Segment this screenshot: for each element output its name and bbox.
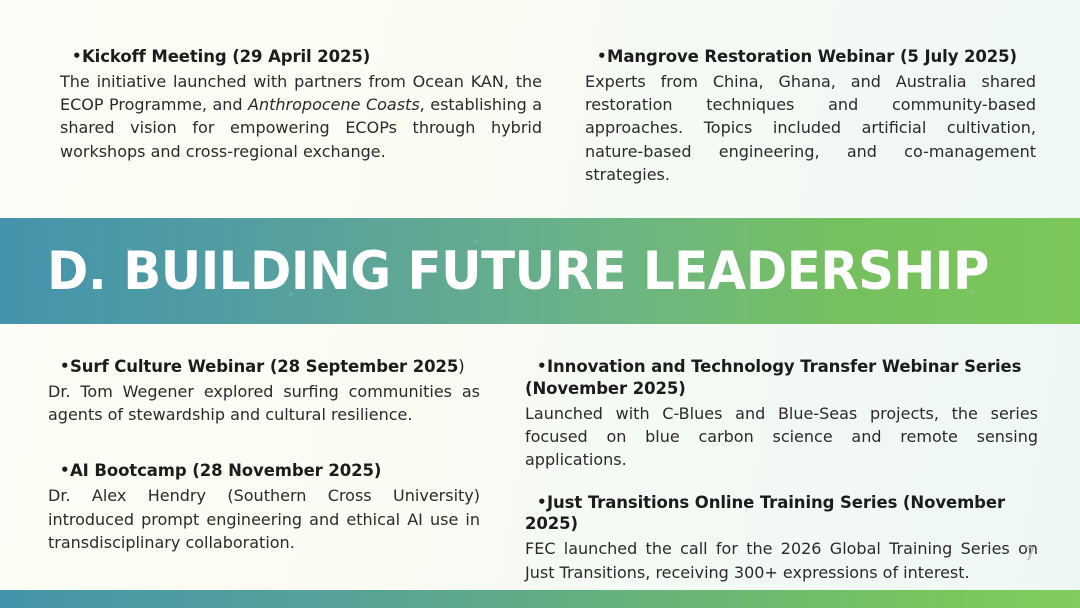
bullet-icon: • [60,47,82,67]
top-left-column: •Kickoff Meeting (29 April 2025) The ini… [0,0,560,218]
bottom-right-column: •Innovation and Technology Transfer Webi… [510,324,1080,590]
block-body: The initiative launched with partners fr… [60,70,542,163]
block-heading: •Mangrove Restoration Webinar (5 July 20… [585,46,1036,68]
block-heading-text: Mangrove Restoration Webinar (5 July 202… [607,47,1017,66]
block-body: Experts from China, Ghana, and Australia… [585,70,1036,187]
block-heading: •Just Transitions Online Training Series… [525,492,1038,536]
content-block-kickoff-meeting: •Kickoff Meeting (29 April 2025) The ini… [60,46,542,163]
block-heading-text: Just Transitions Online Training Series … [525,493,1005,534]
content-block-ai-bootcamp: •AI Bootcamp (28 November 2025) Dr. Alex… [48,460,480,554]
top-right-column: •Mangrove Restoration Webinar (5 July 20… [560,0,1080,218]
bullet-icon: • [525,357,547,377]
bullet-icon: • [48,357,70,377]
page-number: 7 [1024,545,1036,564]
bullet-icon: • [48,461,70,481]
block-body-emphasis: Anthropocene Coasts [248,95,420,114]
top-content-region: •Kickoff Meeting (29 April 2025) The ini… [0,0,1080,218]
bullet-icon: • [525,493,547,513]
presentation-slide: •Kickoff Meeting (29 April 2025) The ini… [0,0,1080,608]
bottom-content-region: •Surf Culture Webinar (28 September 2025… [0,324,1080,590]
block-body: Launched with C-Blues and Blue-Seas proj… [525,402,1038,472]
block-heading-text: AI Bootcamp (28 November 2025) [70,461,381,480]
content-block-surf-culture-webinar: •Surf Culture Webinar (28 September 2025… [48,356,480,426]
bullet-icon: • [585,47,607,67]
block-heading: •Innovation and Technology Transfer Webi… [525,356,1038,400]
content-block-just-transitions-training: •Just Transitions Online Training Series… [525,492,1038,584]
block-heading: •Kickoff Meeting (29 April 2025) [60,46,542,68]
block-heading-tail: ) [458,357,464,376]
block-body: Dr. Alex Hendry (Southern Cross Universi… [48,484,480,554]
content-block-innovation-technology-transfer: •Innovation and Technology Transfer Webi… [525,356,1038,472]
footer-gradient-band [0,590,1080,608]
section-banner-title: D. BUILDING FUTURE LEADERSHIP [0,245,989,298]
section-banner: D. BUILDING FUTURE LEADERSHIP [0,218,1080,324]
block-body: FEC launched the call for the 2026 Globa… [525,537,1038,584]
block-heading-text: Innovation and Technology Transfer Webin… [525,357,1021,398]
block-heading-text: Surf Culture Webinar (28 September 2025 [70,357,458,376]
bottom-left-column: •Surf Culture Webinar (28 September 2025… [0,324,510,590]
block-heading-text: Kickoff Meeting (29 April 2025) [82,47,370,66]
block-body: Dr. Tom Wegener explored surfing communi… [48,380,480,427]
block-heading: •Surf Culture Webinar (28 September 2025… [48,356,480,378]
content-block-mangrove-restoration-webinar: •Mangrove Restoration Webinar (5 July 20… [585,46,1036,187]
block-heading: •AI Bootcamp (28 November 2025) [48,460,480,482]
